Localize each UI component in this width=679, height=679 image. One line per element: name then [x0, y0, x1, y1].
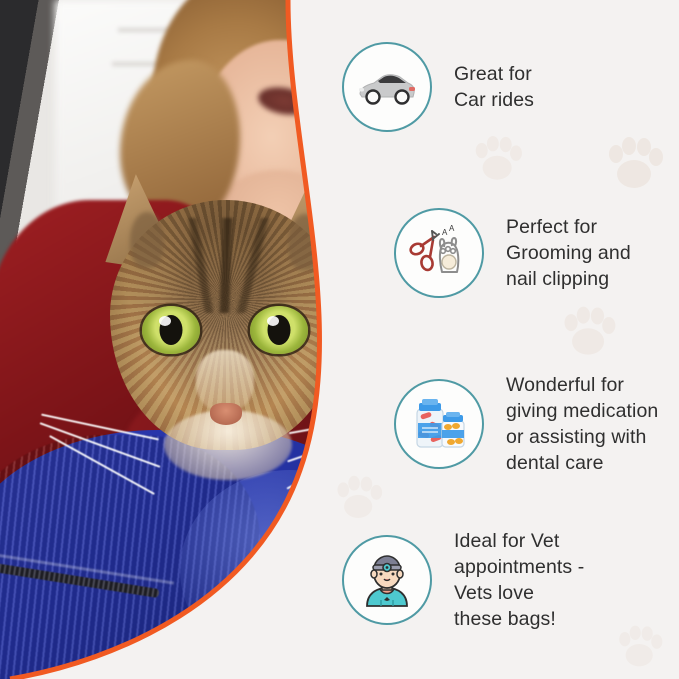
feature-icon-badge	[394, 379, 484, 469]
feature-icon-badge	[342, 42, 432, 132]
cat-forehead-markings	[174, 218, 278, 313]
feature-grooming[interactable]: AA Perfect for Grooming and nail clippin…	[394, 208, 631, 298]
nail-clipper-paw-icon: AA	[409, 224, 469, 282]
svg-text:A: A	[442, 228, 448, 237]
cat-nose	[210, 403, 242, 425]
cat-inner-ear-right	[288, 214, 322, 270]
feature-text: Wonderful for giving medication or assis…	[506, 372, 658, 477]
feature-icon-badge	[342, 535, 432, 625]
veterinarian-icon	[357, 550, 417, 610]
car-icon	[356, 66, 418, 108]
cat-inner-ear-left	[130, 212, 164, 268]
cat-eye-left	[142, 306, 200, 354]
feature-text: Perfect for Grooming and nail clipping	[506, 214, 631, 292]
feature-car-rides[interactable]: Great for Car rides	[342, 42, 534, 132]
feature-text: Ideal for Vet appointments - Vets love t…	[454, 528, 584, 633]
feature-text: Great for Car rides	[454, 61, 534, 113]
feature-vet-visits[interactable]: Ideal for Vet appointments - Vets love t…	[342, 528, 584, 633]
feature-icon-badge: AA	[394, 208, 484, 298]
feature-list: Great for Car rides	[322, 0, 679, 679]
infographic-canvas: Great for Car rides	[0, 0, 679, 679]
cat-subject	[92, 178, 360, 508]
feature-medication[interactable]: Wonderful for giving medication or assis…	[394, 372, 658, 477]
medicine-bottles-icon	[409, 395, 469, 453]
svg-text:A: A	[449, 224, 455, 233]
cat-eye-right	[250, 306, 308, 354]
